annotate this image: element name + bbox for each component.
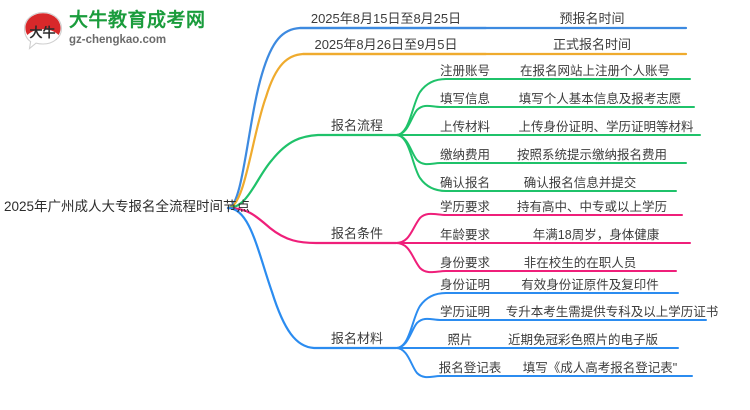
node-conditions-child-3-detail[interactable]: 非在校生的在职人员: [524, 255, 637, 271]
node-conditions-child-1-detail[interactable]: 持有高中、中专或以上学历: [517, 199, 667, 215]
node-conditions-child-3-label[interactable]: 身份要求: [440, 255, 490, 271]
node-materials-child-4-detail[interactable]: 填写《成人高考报名登记表": [523, 360, 677, 376]
node-conditions-child-2-detail[interactable]: 年满18周岁，身体健康: [533, 227, 659, 243]
node-conditions-child-1-label[interactable]: 学历要求: [440, 199, 490, 215]
node-process-child-1-label[interactable]: 注册账号: [440, 63, 490, 79]
node-process-child-1-detail[interactable]: 在报名网站上注册个人账号: [520, 63, 670, 79]
node-materials-child-4-label[interactable]: 报名登记表: [439, 360, 502, 376]
node-materials-child-1-label[interactable]: 身份证明: [440, 277, 490, 293]
root-node-label[interactable]: 2025年广州成人大专报名全流程时间节点: [4, 199, 250, 215]
node-formal-registration-time-note[interactable]: 正式报名时间: [553, 37, 631, 53]
node-process-child-3-label[interactable]: 上传材料: [440, 119, 490, 135]
node-process-child-4-detail[interactable]: 按照系统提示缴纳报名费用: [517, 147, 667, 163]
node-registration-conditions-label[interactable]: 报名条件: [331, 226, 383, 242]
node-process-child-2-detail[interactable]: 填写个人基本信息及报考志愿: [519, 91, 682, 107]
node-process-child-5-label[interactable]: 确认报名: [440, 175, 490, 191]
node-pre-registration-time-label[interactable]: 2025年8月15日至8月25日: [311, 11, 461, 27]
node-materials-child-3-detail[interactable]: 近期免冠彩色照片的电子版: [508, 332, 658, 348]
node-materials-child-2-detail[interactable]: 专升本考生需提供专科及以上学历证书: [506, 304, 719, 320]
node-materials-child-3-label[interactable]: 照片: [447, 332, 472, 348]
node-materials-child-2-label[interactable]: 学历证明: [440, 304, 490, 320]
node-materials-child-1-detail[interactable]: 有效身份证原件及复印件: [521, 277, 659, 293]
node-registration-process-label[interactable]: 报名流程: [331, 118, 383, 134]
node-formal-registration-time-label[interactable]: 2025年8月26日至9月5日: [314, 37, 457, 53]
node-conditions-child-2-label[interactable]: 年龄要求: [440, 227, 490, 243]
node-registration-materials-label[interactable]: 报名材料: [331, 331, 383, 347]
node-process-child-3-detail[interactable]: 上传身份证明、学历证明等材料: [518, 119, 693, 135]
node-process-child-5-detail[interactable]: 确认报名信息并提交: [524, 175, 637, 191]
node-process-child-4-label[interactable]: 缴纳费用: [440, 147, 490, 163]
mindmap-canvas: 大牛 大牛教育成考网 gz-chengkao.com: [0, 0, 750, 410]
node-pre-registration-time-note[interactable]: 预报名时间: [559, 11, 624, 27]
node-process-child-2-label[interactable]: 填写信息: [440, 91, 490, 107]
